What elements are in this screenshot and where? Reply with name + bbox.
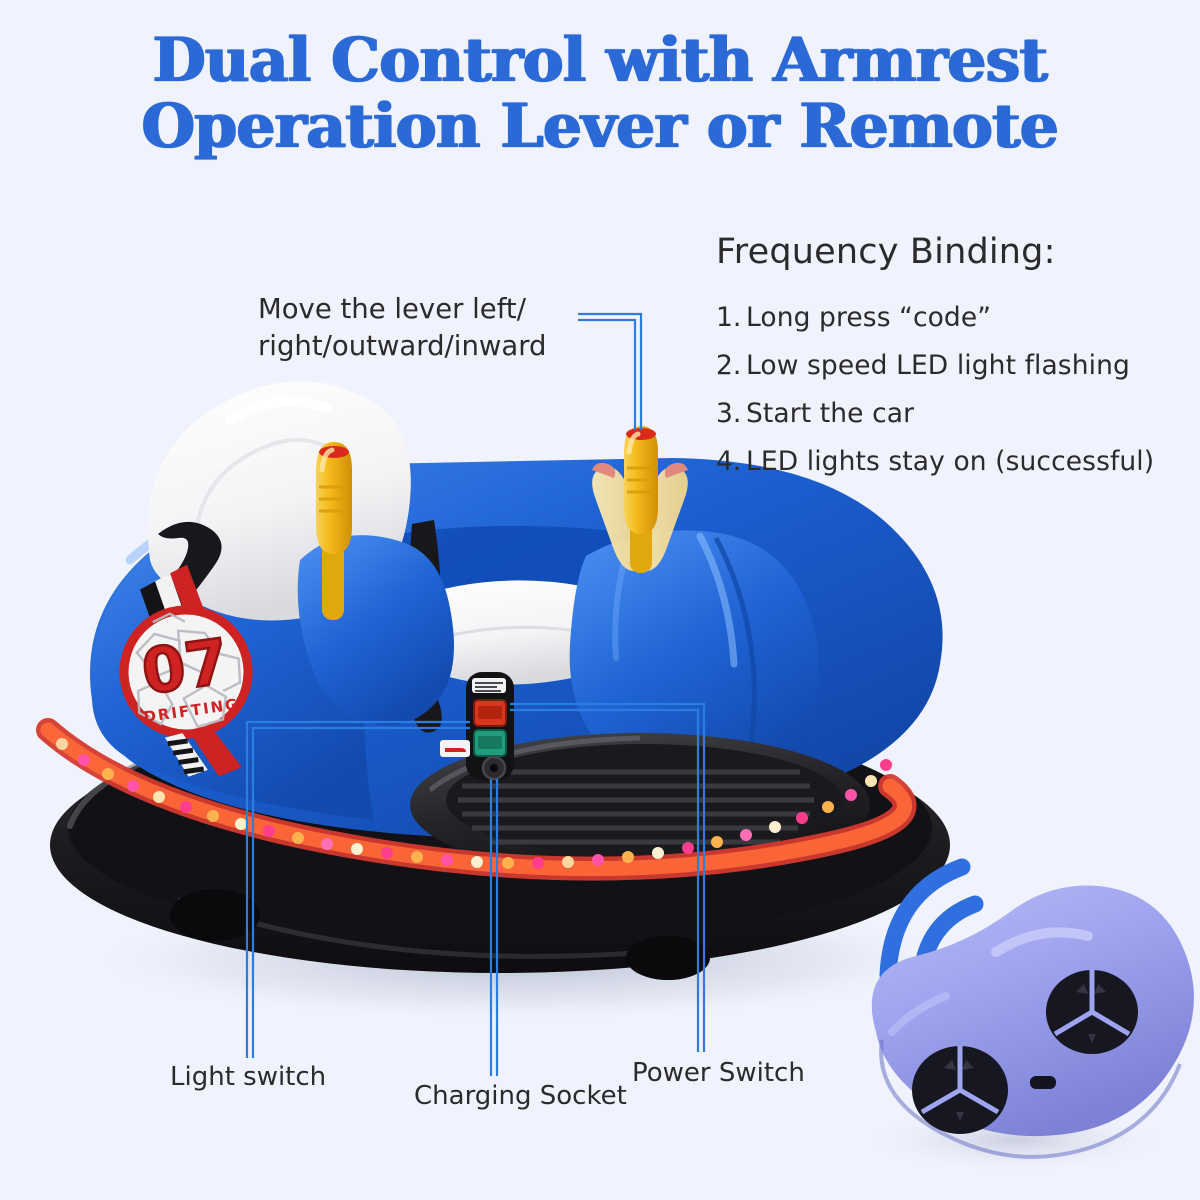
remote-control: [872, 867, 1194, 1157]
frequency-binding-list: 1. Long press “code” 2. Low speed LED li…: [716, 302, 1196, 494]
list-item: 4. LED lights stay on (successful): [716, 446, 1196, 477]
list-item: 1. Long press “code”: [716, 302, 1196, 333]
callout-power-switch: Power Switch: [632, 1058, 805, 1088]
callout-light-switch: Light switch: [170, 1062, 326, 1092]
control-panel: [466, 672, 514, 780]
list-item-text: Long press “code”: [746, 302, 1196, 333]
list-item-number: 2.: [716, 350, 746, 381]
list-item: 2. Low speed LED light flashing: [716, 350, 1196, 381]
remote-led-indicator: [1030, 1076, 1056, 1089]
list-item-number: 1.: [716, 302, 746, 333]
list-item-text: Low speed LED light flashing: [746, 350, 1196, 381]
remote-pad-right: [1046, 970, 1138, 1054]
frequency-binding-heading: Frequency Binding:: [716, 232, 1056, 272]
infographic-canvas: Dual Control with Armrest Operation Leve…: [0, 0, 1200, 1200]
list-item-text: Start the car: [746, 398, 1196, 429]
product-illustration: 07 DRIFTING: [0, 0, 1200, 1200]
list-item-number: 4.: [716, 446, 746, 477]
wheel-right: [626, 936, 710, 980]
decal-number: 07: [137, 624, 233, 708]
list-item-number: 3.: [716, 398, 746, 429]
list-item: 3. Start the car: [716, 398, 1196, 429]
side-sticker: [440, 740, 470, 757]
callout-charging-socket: Charging Socket: [414, 1081, 627, 1111]
lever-annotation-text: Move the lever left/ right/outward/inwar…: [258, 291, 588, 365]
list-item-text: LED lights stay on (successful): [746, 446, 1196, 477]
wheel-left: [170, 889, 260, 941]
remote-pad-left: [912, 1046, 1008, 1134]
